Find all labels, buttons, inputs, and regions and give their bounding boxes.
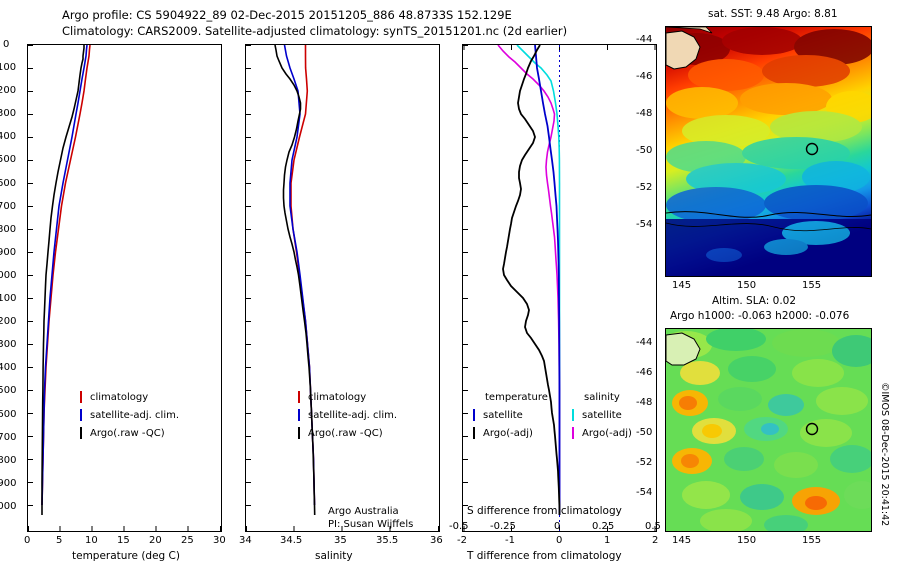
legend-label-climatology-2: climatology [308, 392, 366, 403]
difference-plot [463, 45, 656, 531]
legend-swatch-satellite-adj-2 [298, 409, 300, 421]
legend-swatch-t-satellite [473, 409, 475, 421]
legend-swatch-argo [80, 427, 82, 439]
legend-label-argo-2: Argo(.raw -QC) [308, 428, 383, 439]
credit-label: ©IMOS 08-Dec-2015 20:41:42 [879, 382, 890, 526]
legend-swatch-argo-2 [298, 427, 300, 439]
sst-map-panel [665, 26, 872, 277]
salinity-xlabel: salinity [315, 550, 353, 562]
legend-swatch-s-satellite [572, 409, 574, 421]
legend-swatch-s-argo [572, 427, 574, 439]
legend-label-satellite-adj-2: satellite-adj. clim. [308, 410, 397, 421]
legend-label-s-satellite: satellite [582, 410, 622, 421]
legend-label-temperature-group: temperature [485, 392, 548, 403]
sla-map-panel [665, 328, 872, 532]
sla-map-image [666, 329, 871, 531]
legend-label-climatology: climatology [90, 392, 148, 403]
legend-swatch-climatology [80, 391, 82, 403]
difference-xlabel-top: S difference from climatology [467, 505, 622, 517]
footer-pi: PI: Susan Wijffels [328, 519, 413, 530]
page-title-line1: Argo profile: CS 5904922_89 02-Dec-2015 … [62, 8, 512, 22]
sst-map-image [666, 27, 871, 276]
legend-label-t-argo: Argo(-adj) [483, 428, 533, 439]
legend-label-salinity-group: salinity [584, 392, 620, 403]
page-title-line2: Climatology: CARS2009. Satellite-adjuste… [62, 24, 567, 38]
salinity-plot [246, 45, 439, 531]
difference-xlabel-bottom: T difference from climatology [467, 550, 622, 562]
sla-map-title-line1: Altim. SLA: 0.02 [712, 295, 796, 307]
legend-label-t-satellite: satellite [483, 410, 523, 421]
legend-swatch-t-argo [473, 427, 475, 439]
temperature-plot [28, 45, 221, 531]
footer-org: Argo Australia [328, 506, 399, 517]
sst-map-title: sat. SST: 9.48 Argo: 8.81 [708, 8, 838, 20]
legend-swatch-climatology-2 [298, 391, 300, 403]
legend-label-argo: Argo(.raw -QC) [90, 428, 165, 439]
sla-map-title-line2: Argo h1000: -0.063 h2000: -0.076 [670, 310, 849, 322]
temperature-xlabel: temperature (deg C) [72, 550, 180, 562]
legend-label-satellite-adj: satellite-adj. clim. [90, 410, 179, 421]
legend-swatch-satellite-adj [80, 409, 82, 421]
legend-label-s-argo: Argo(-adj) [582, 428, 632, 439]
